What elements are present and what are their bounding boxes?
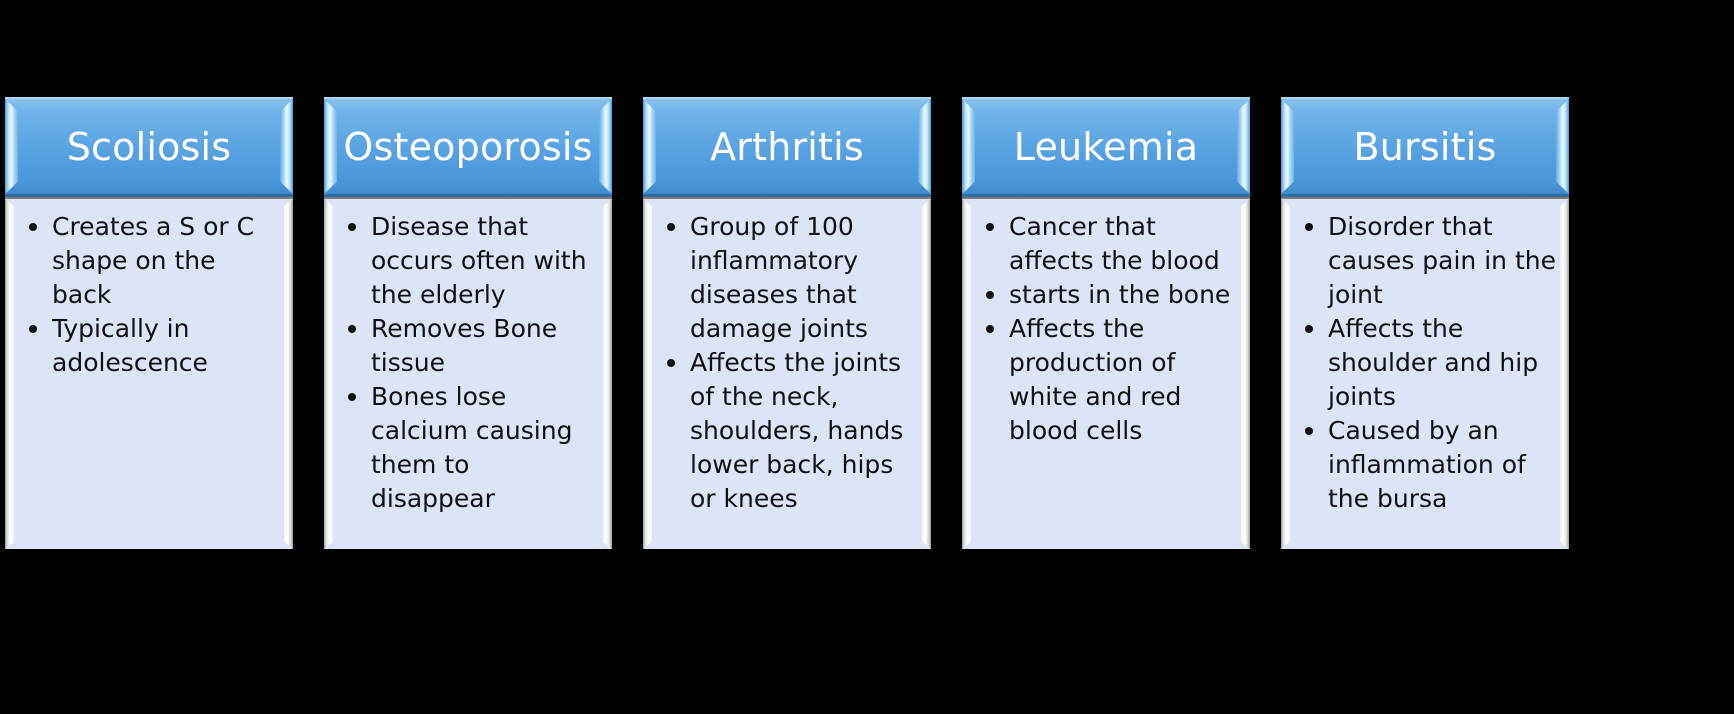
list-item: Removes Bone tissue — [339, 312, 600, 380]
list-item: Disease that occurs often with the elder… — [339, 210, 600, 312]
bullet-list: Creates a S or C shape on the back Typic… — [20, 210, 281, 380]
disease-column-group: Scoliosis Creates a S or C shape on the … — [5, 97, 1729, 549]
bullet-dot-icon — [986, 291, 994, 299]
disease-column-arthritis[interactable]: Arthritis Group of 100 inflammatory dise… — [643, 97, 931, 549]
disease-column-bursitis[interactable]: Bursitis Disorder that causes pain in th… — [1281, 97, 1569, 549]
bullet-dot-icon — [29, 325, 37, 333]
bullet-text: Disorder that causes pain in the joint — [1328, 212, 1556, 309]
bullet-text: Affects the joints of the neck, shoulder… — [690, 348, 903, 513]
column-header-scoliosis[interactable]: Scoliosis — [5, 97, 293, 197]
column-title: Arthritis — [710, 128, 864, 166]
bullet-text: Affects the production of white and red … — [1009, 314, 1181, 445]
bullet-dot-icon — [667, 223, 675, 231]
bullet-text: starts in the bone — [1009, 280, 1230, 309]
list-item: Affects the shoulder and hip joints — [1296, 312, 1557, 414]
disease-column-leukemia[interactable]: Leukemia Cancer that affects the blood s… — [962, 97, 1250, 549]
column-body-inner: Group of 100 inflammatory diseases that … — [652, 208, 923, 541]
bullet-dot-icon — [348, 223, 356, 231]
column-body-inner: Disorder that causes pain in the joint A… — [1290, 208, 1561, 541]
bullet-text: Group of 100 inflammatory diseases that … — [690, 212, 868, 343]
bullet-list: Cancer that affects the blood starts in … — [977, 210, 1238, 448]
list-item: starts in the bone — [977, 278, 1238, 312]
column-header-arthritis[interactable]: Arthritis — [643, 97, 931, 197]
column-title: Scoliosis — [67, 128, 232, 166]
column-body-inner: Cancer that affects the blood starts in … — [971, 208, 1242, 541]
bullet-dot-icon — [348, 325, 356, 333]
column-header-osteoporosis[interactable]: Osteoporosis — [324, 97, 612, 197]
column-body-leukemia: Cancer that affects the blood starts in … — [962, 197, 1250, 549]
bullet-dot-icon — [29, 223, 37, 231]
bullet-dot-icon — [1305, 427, 1313, 435]
column-body-inner: Creates a S or C shape on the back Typic… — [14, 208, 285, 541]
bullet-dot-icon — [986, 223, 994, 231]
list-item: Cancer that affects the blood — [977, 210, 1238, 278]
bullet-text: Typically in adolescence — [52, 314, 208, 377]
list-item: Bones lose calcium causing them to disap… — [339, 380, 600, 516]
column-body-scoliosis: Creates a S or C shape on the back Typic… — [5, 197, 293, 549]
list-item: Group of 100 inflammatory diseases that … — [658, 210, 919, 346]
list-item: Typically in adolescence — [20, 312, 281, 380]
list-item: Creates a S or C shape on the back — [20, 210, 281, 312]
column-title: Leukemia — [1014, 128, 1198, 166]
column-body-osteoporosis: Disease that occurs often with the elder… — [324, 197, 612, 549]
column-title: Bursitis — [1354, 128, 1497, 166]
bullet-text: Disease that occurs often with the elder… — [371, 212, 587, 309]
list-item: Affects the joints of the neck, shoulder… — [658, 346, 919, 516]
column-body-arthritis: Group of 100 inflammatory diseases that … — [643, 197, 931, 549]
bullet-dot-icon — [348, 393, 356, 401]
bullet-dot-icon — [1305, 223, 1313, 231]
column-body-inner: Disease that occurs often with the elder… — [333, 208, 604, 541]
bullet-list: Group of 100 inflammatory diseases that … — [658, 210, 919, 516]
bullet-dot-icon — [1305, 325, 1313, 333]
bullet-list: Disease that occurs often with the elder… — [339, 210, 600, 516]
bullet-list: Disorder that causes pain in the joint A… — [1296, 210, 1557, 516]
bullet-text: Caused by an inflammation of the bursa — [1328, 416, 1526, 513]
disease-column-scoliosis[interactable]: Scoliosis Creates a S or C shape on the … — [5, 97, 293, 549]
bullet-text: Creates a S or C shape on the back — [52, 212, 254, 309]
column-body-bursitis: Disorder that causes pain in the joint A… — [1281, 197, 1569, 549]
slide-canvas: Scoliosis Creates a S or C shape on the … — [0, 0, 1734, 714]
bullet-text: Affects the shoulder and hip joints — [1328, 314, 1538, 411]
list-item: Caused by an inflammation of the bursa — [1296, 414, 1557, 516]
column-header-bursitis[interactable]: Bursitis — [1281, 97, 1569, 197]
bullet-dot-icon — [986, 325, 994, 333]
column-header-leukemia[interactable]: Leukemia — [962, 97, 1250, 197]
bullet-dot-icon — [667, 359, 675, 367]
bullet-text: Cancer that affects the blood — [1009, 212, 1220, 275]
column-title: Osteoporosis — [343, 128, 592, 166]
bullet-text: Bones lose calcium causing them to disap… — [371, 382, 572, 513]
list-item: Disorder that causes pain in the joint — [1296, 210, 1557, 312]
list-item: Affects the production of white and red … — [977, 312, 1238, 448]
disease-column-osteoporosis[interactable]: Osteoporosis Disease that occurs often w… — [324, 97, 612, 549]
bullet-text: Removes Bone tissue — [371, 314, 557, 377]
